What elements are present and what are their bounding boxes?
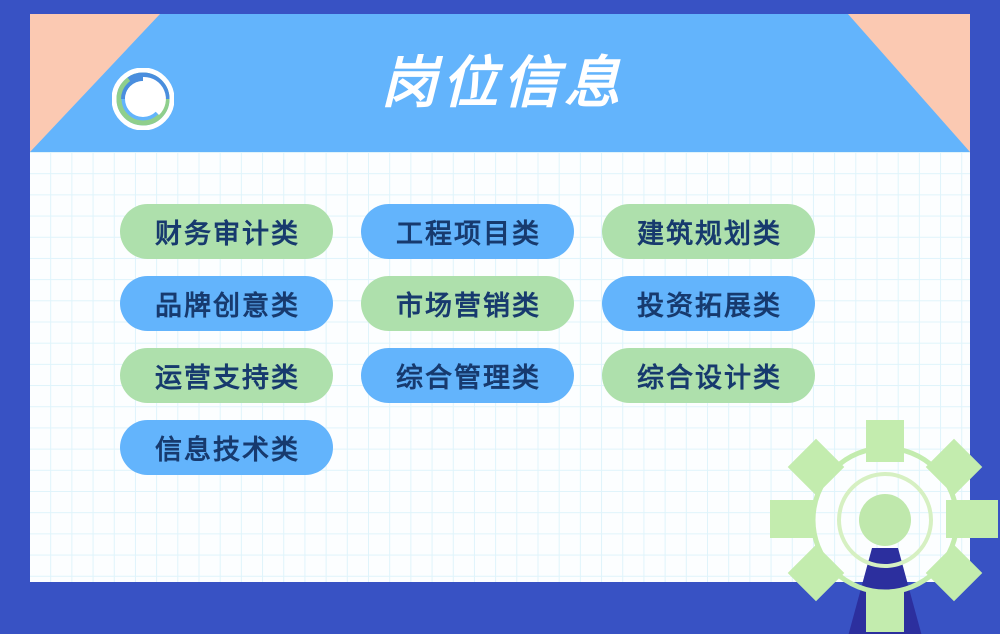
job-category-pill[interactable]: 投资拓展类	[602, 276, 815, 331]
job-category-list: 财务审计类 工程项目类 建筑规划类 品牌创意类 市场营销类 投资拓展类 运营支持…	[120, 204, 910, 492]
job-category-pill[interactable]: 市场营销类	[361, 276, 574, 331]
job-category-pill[interactable]: 信息技术类	[120, 420, 333, 475]
job-category-pill[interactable]: 工程项目类	[361, 204, 574, 259]
job-category-pill[interactable]: 运营支持类	[120, 348, 333, 403]
job-category-pill[interactable]: 建筑规划类	[602, 204, 815, 259]
job-category-row: 信息技术类	[120, 420, 910, 475]
job-category-pill[interactable]: 品牌创意类	[120, 276, 333, 331]
content-card: 岗位信息 财务审计类 工程项目类 建筑规划类 品牌创意类 市场营销类 投资拓展类…	[30, 14, 970, 582]
job-category-row: 运营支持类 综合管理类 综合设计类	[120, 348, 910, 403]
poster-header: 岗位信息	[30, 14, 970, 152]
job-category-row: 财务审计类 工程项目类 建筑规划类	[120, 204, 910, 259]
page-title: 岗位信息	[30, 14, 970, 152]
job-category-row: 品牌创意类 市场营销类 投资拓展类	[120, 276, 910, 331]
job-category-pill[interactable]: 综合管理类	[361, 348, 574, 403]
poster-canvas: 岗位信息 财务审计类 工程项目类 建筑规划类 品牌创意类 市场营销类 投资拓展类…	[0, 0, 1000, 634]
job-category-pill[interactable]: 综合设计类	[602, 348, 815, 403]
job-category-pill[interactable]: 财务审计类	[120, 204, 333, 259]
